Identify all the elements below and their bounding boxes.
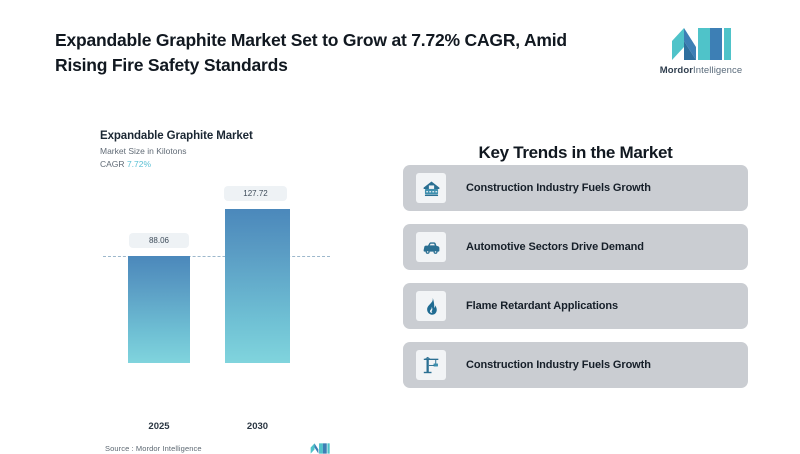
chart-subtitle: Market Size in Kilotons	[100, 146, 330, 156]
chart-cagr-label: CAGR	[100, 159, 125, 169]
chart-cagr-value: 7.72%	[127, 159, 151, 169]
trend-card-label: Flame Retardant Applications	[466, 300, 618, 312]
bar-chart-plot-area: 88.06 127.72 2025 2030 Source : Mordor I…	[100, 178, 330, 368]
trend-icon-box	[416, 291, 446, 321]
trend-card-construction-1[interactable]: Construction Industry Fuels Growth	[403, 165, 748, 211]
brand-wordmark-bold: Mordor	[660, 65, 693, 76]
key-trends-card-list: Construction Industry Fuels Growth Autom…	[403, 165, 748, 401]
brand-wordmark-light: Intelligence	[693, 65, 742, 76]
trend-card-construction-2[interactable]: Construction Industry Fuels Growth	[403, 342, 748, 388]
x-axis-tick-2030: 2030	[225, 421, 290, 432]
trend-card-label: Construction Industry Fuels Growth	[466, 359, 651, 371]
trend-card-flame-retardant[interactable]: Flame Retardant Applications	[403, 283, 748, 329]
trend-icon-box	[416, 232, 446, 262]
bar-2025[interactable]	[128, 256, 190, 363]
key-trends-heading: Key Trends in the Market	[403, 143, 748, 163]
page-title: Expandable Graphite Market Set to Grow a…	[55, 28, 615, 78]
chart-source-prefix: Source :	[105, 444, 134, 453]
trend-icon-box	[416, 173, 446, 203]
trend-card-label: Automotive Sectors Drive Demand	[466, 241, 644, 253]
bar-value-label-2025: 88.06	[129, 233, 189, 248]
car-icon	[421, 237, 442, 258]
chart-source-row: Source : Mordor Intelligence	[105, 443, 330, 454]
x-axis-tick-2025: 2025	[128, 421, 190, 432]
chart-cagr: CAGR 7.72%	[100, 159, 330, 169]
trend-icon-box	[416, 350, 446, 380]
brand-logo: MordorIntelligence	[655, 27, 747, 76]
crane-icon	[421, 355, 442, 376]
flame-icon	[421, 296, 442, 317]
trend-card-label: Construction Industry Fuels Growth	[466, 182, 651, 194]
chart-source-text: Source : Mordor Intelligence	[105, 444, 202, 453]
page-header: Expandable Graphite Market Set to Grow a…	[0, 0, 800, 108]
trend-card-automotive[interactable]: Automotive Sectors Drive Demand	[403, 224, 748, 270]
chart-source-name: Mordor Intelligence	[136, 444, 202, 453]
mordor-intelligence-logo-icon	[670, 27, 732, 61]
mordor-intelligence-mini-logo-icon	[310, 443, 330, 454]
bar-2030[interactable]	[225, 209, 290, 363]
chart-panel: Expandable Graphite Market Market Size i…	[100, 130, 330, 415]
bar-value-label-2030: 127.72	[224, 186, 287, 201]
chart-title: Expandable Graphite Market	[100, 130, 330, 142]
construction-house-icon	[421, 178, 442, 199]
brand-wordmark: MordorIntelligence	[655, 65, 747, 76]
